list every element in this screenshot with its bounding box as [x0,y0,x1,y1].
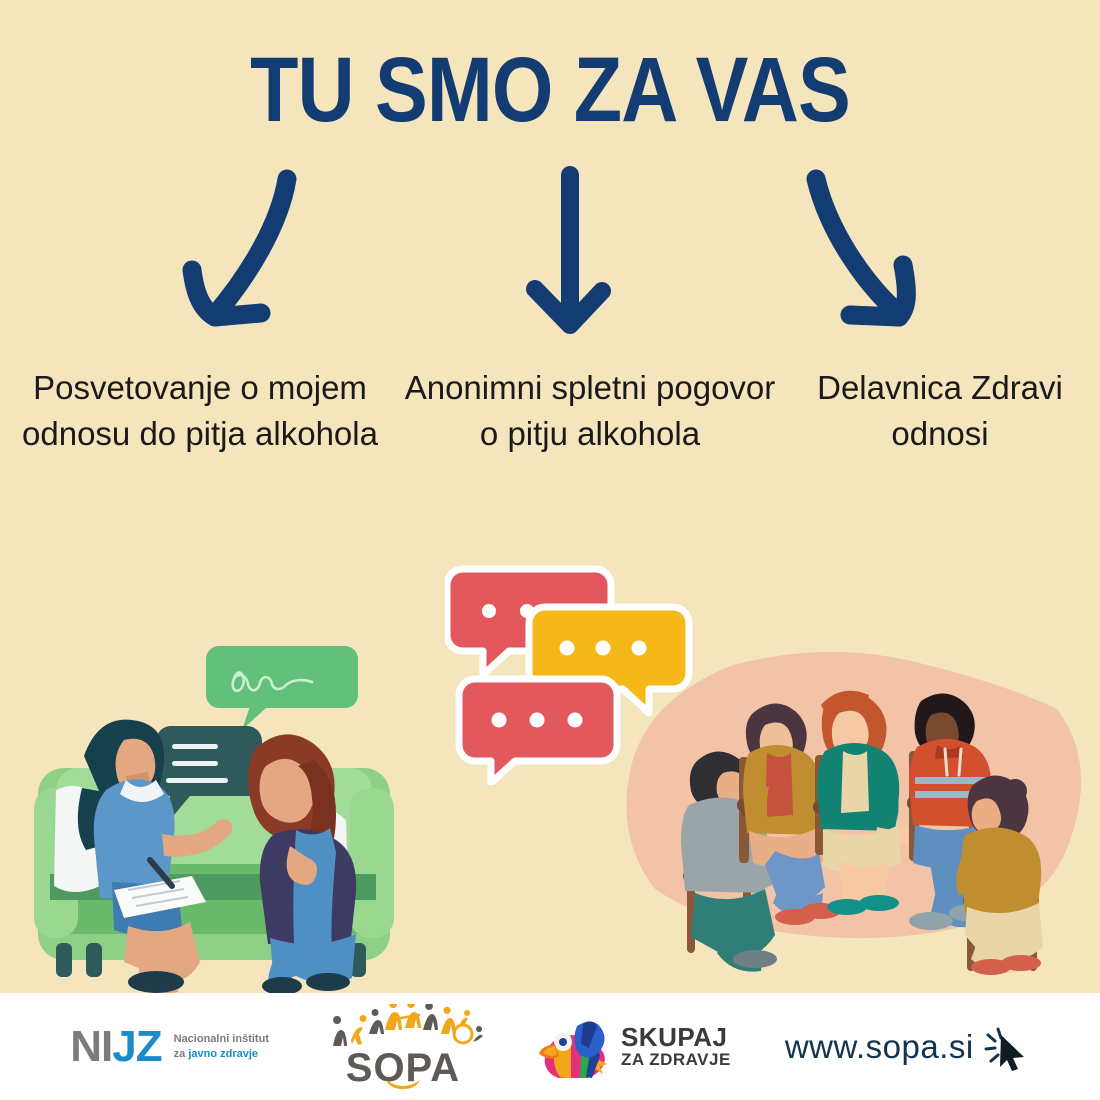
chat-bubble-red-bottom [459,679,617,783]
arrow-right-icon [798,165,938,350]
skupaj-line1: SKUPAJ [621,1024,731,1051]
nijz-tagline: Nacionalni inštitut za javno zdravje [174,1032,269,1062]
url-text: www.sopa.si [785,1028,974,1066]
footer-logo-bar: NIJZ Nacionalni inštitut za javno zdravj… [0,993,1100,1100]
rainbow-bird-icon [537,1016,611,1078]
skupaj-text-block: SKUPAJ ZA ZDRAVJE [621,1024,731,1069]
nijz-tagline-line1: Nacionalni inštitut [174,1032,269,1047]
arrow-down-icon [518,165,628,350]
nijz-tagline-line2: za javno zdravje [174,1047,269,1062]
arrow-left-icon [175,165,305,350]
nijz-tagline-prefix: za [174,1048,189,1060]
logo-skupaj-za-zdravje[interactable]: SKUPAJ ZA ZDRAVJE [537,1016,731,1078]
skupaj-line2: ZA ZDRAVJE [621,1051,731,1069]
logo-sopa[interactable]: SOPA [323,1004,483,1090]
website-url-link[interactable]: www.sopa.si [785,1023,1030,1071]
sopa-bowl-icon [383,1078,423,1090]
nijz-tagline-bold: javno zdravje [188,1048,258,1060]
click-cursor-icon [984,1023,1030,1071]
column-caption-online-chat: Anonimni spletni pogovor o pitju alkohol… [400,365,780,456]
nijz-wordmark: NIJZ [70,1025,161,1069]
group-therapy-circle-illustration [615,645,1085,995]
green-speech-bubble [206,646,358,730]
page-title: TU SMO ZA VAS [77,44,1023,136]
nijz-ni-text: NI [70,1025,112,1069]
logo-nijz[interactable]: NIJZ Nacionalni inštitut za javno zdravj… [70,1025,269,1069]
sopa-people-arc-icon [323,1004,483,1050]
column-caption-workshop: Delavnica Zdravi odnosi [790,365,1090,456]
nijz-jz-text: JZ [112,1025,161,1069]
counselling-couch-illustration [28,638,398,996]
poster-canvas: TU SMO ZA VAS Posvetovanje o mojem odnos… [0,0,1100,1100]
column-caption-consultation: Posvetovanje o mojem odnosu do pitja alk… [10,365,390,456]
